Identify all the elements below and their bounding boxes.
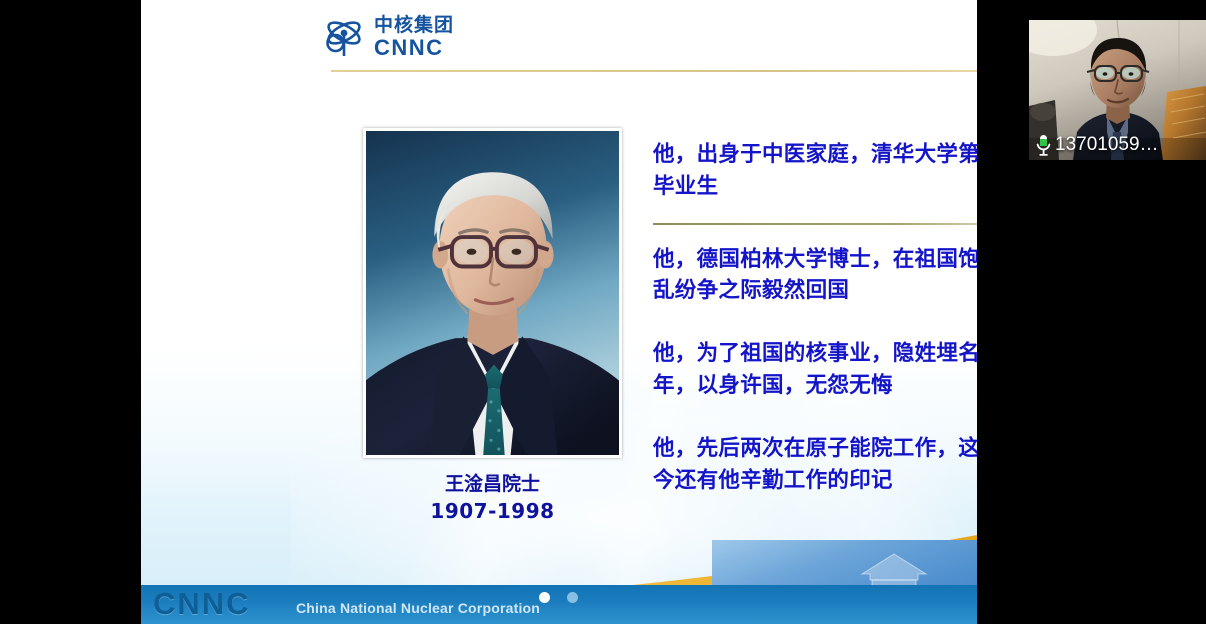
cnnc-logo: 中核集团 CNNC	[321, 14, 454, 60]
bullet-paragraph-4: 他，先后两次在原子能院工作，这里至今还有他辛勤工作的印记	[653, 433, 977, 497]
footer-brand-abbr: CNNC	[153, 586, 251, 622]
bullet-divider	[653, 223, 977, 225]
slide-footer-graphic: CNNC China National Nuclear Corporation	[141, 519, 977, 624]
atom-orbital-icon	[321, 14, 367, 60]
logo-chinese-name: 中核集团	[374, 16, 454, 35]
pager-dot-active[interactable]	[539, 592, 550, 603]
screen-share-viewport: 中核集团 CNNC	[0, 0, 1206, 624]
participant-video-tile[interactable]: 13701059…	[1029, 20, 1206, 160]
footer-banner: CNNC China National Nuclear Corporation	[141, 585, 977, 624]
portrait-photo	[363, 128, 622, 458]
logo-english-abbr: CNNC	[374, 37, 454, 59]
footer-brand-full: China National Nuclear Corporation	[296, 600, 540, 616]
header-divider	[331, 70, 977, 72]
portrait-caption: 王淦昌院士 1907-1998	[363, 472, 622, 525]
bullet-paragraph-2: 他，德国柏林大学博士，在祖国饱受战乱纷争之际毅然回国	[653, 244, 977, 308]
logo-wordmark: 中核集团 CNNC	[374, 16, 454, 59]
slide-pager-dots[interactable]	[539, 592, 578, 603]
participant-name: 13701059…	[1055, 134, 1159, 156]
bullet-paragraph-1: 他，出身于中医家庭，清华大学第一届毕业生	[653, 139, 977, 203]
caption-name: 王淦昌院士	[363, 472, 622, 498]
presentation-slide: 中核集团 CNNC	[141, 0, 977, 624]
portrait-block: 王淦昌院士 1907-1998	[363, 128, 622, 525]
microphone-icon	[1035, 134, 1052, 156]
pager-dot-inactive[interactable]	[567, 592, 578, 603]
participant-label: 13701059…	[1035, 134, 1159, 156]
bullet-list: 他，出身于中医家庭，清华大学第一届毕业生 他，德国柏林大学博士，在祖国饱受战乱纷…	[653, 139, 977, 497]
bullet-paragraph-3: 他，为了祖国的核事业，隐姓埋名17年，以身许国，无怨无悔	[653, 338, 977, 402]
